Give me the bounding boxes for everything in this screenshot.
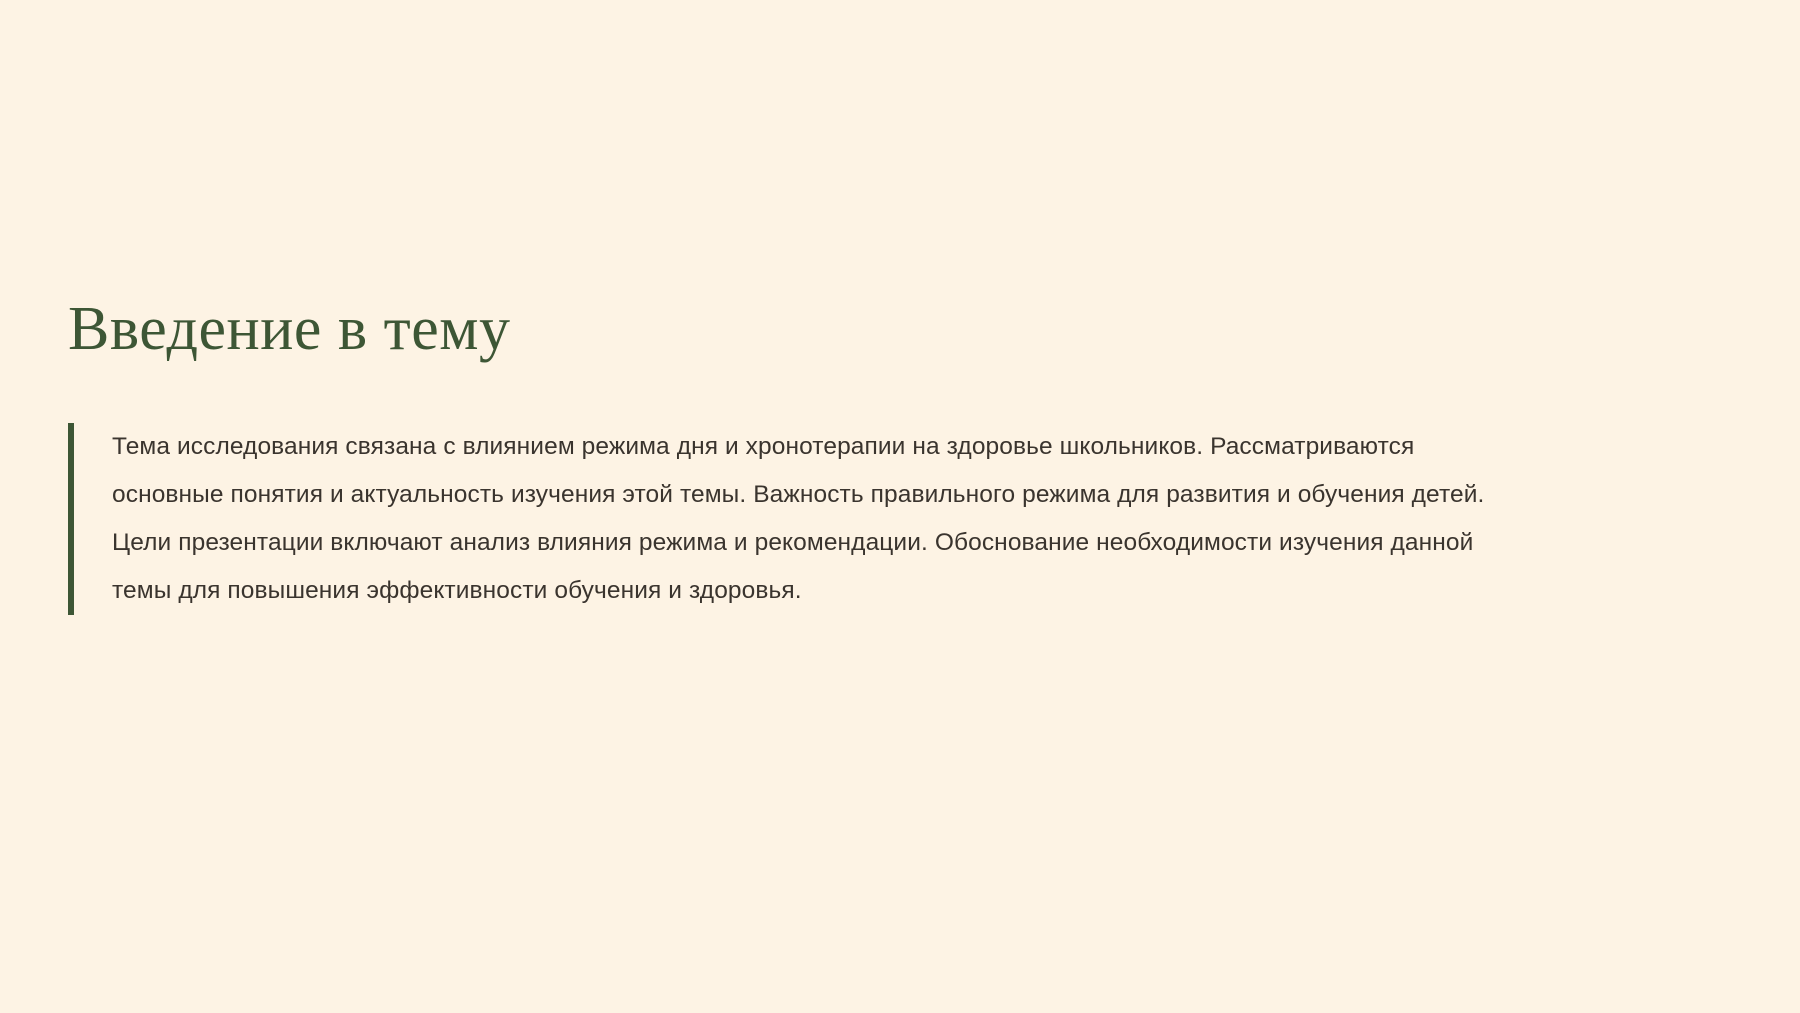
accent-bar [68,423,74,615]
slide-content: Введение в тему Тема исследования связан… [68,296,1708,615]
slide-body-paragraph: Тема исследования связана с влиянием реж… [112,423,1507,615]
slide-title: Введение в тему [68,296,1708,363]
body-text-block: Тема исследования связана с влиянием реж… [68,423,1708,615]
presentation-slide: Введение в тему Тема исследования связан… [0,0,1800,1013]
